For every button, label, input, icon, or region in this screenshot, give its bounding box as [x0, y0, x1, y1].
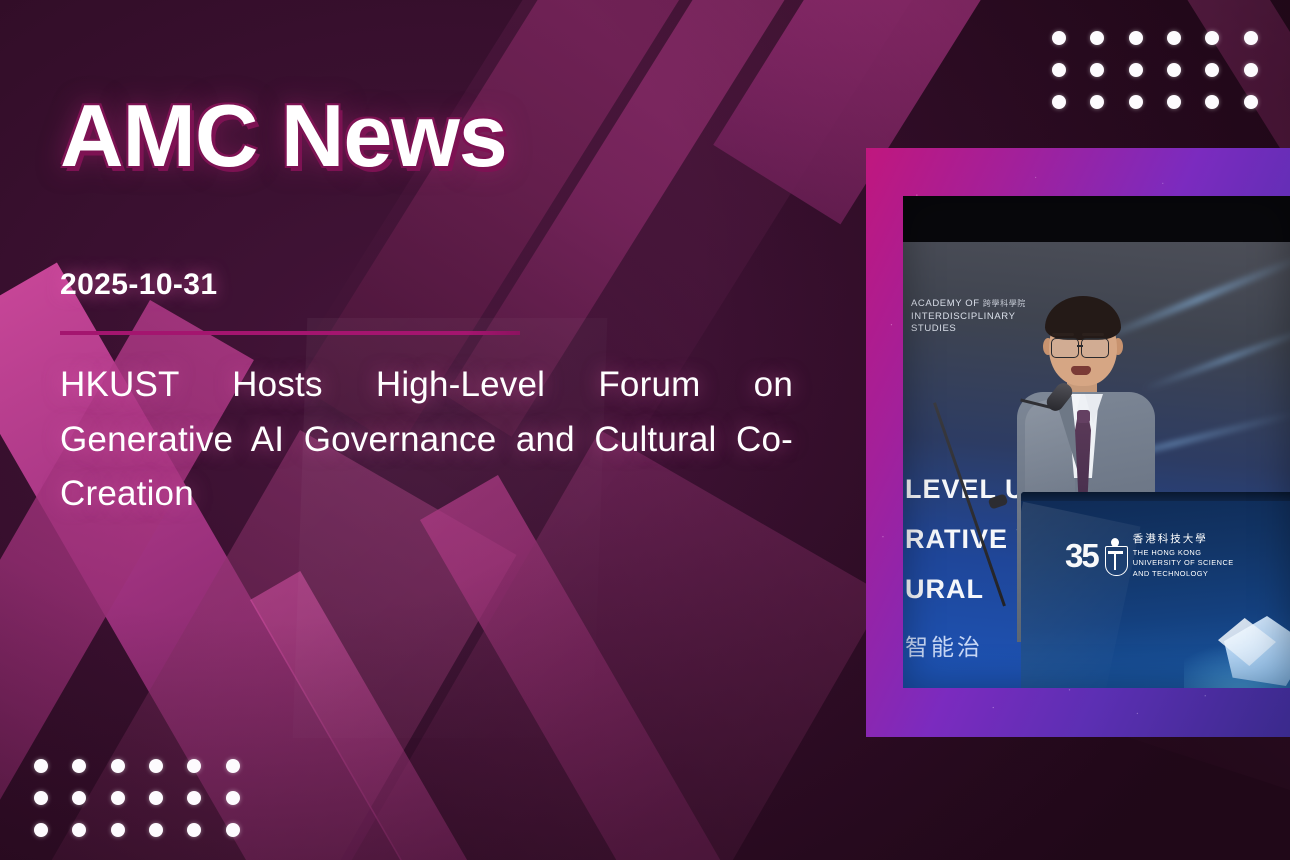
hkust-name-cn: 香港科技大學: [1133, 532, 1234, 547]
backdrop-title-line-3: URAL: [905, 574, 984, 605]
grid-dot: [1244, 95, 1258, 109]
grid-dot: [1090, 63, 1104, 77]
masthead-title: AMC News: [60, 92, 507, 180]
speaker-mouth: [1071, 366, 1091, 375]
grid-dot: [1129, 95, 1143, 109]
grid-dot: [1090, 95, 1104, 109]
tie-knot: [1077, 410, 1090, 423]
grid-dot: [1129, 31, 1143, 45]
hkust-shield-icon: [1104, 538, 1127, 574]
shield-stem: [1114, 554, 1117, 570]
speaker-eyebrow-right: [1082, 333, 1104, 336]
headline-text: HKUST Hosts High-Level Forum on Generati…: [60, 358, 793, 576]
academy-line-1: ACADEMY OF: [911, 298, 980, 309]
academy-line-3: STUDIES: [911, 323, 1026, 336]
amc-news-poster: AMC News 2025-10-31 HKUST Hosts High-Lev…: [0, 0, 1290, 860]
grid-dot: [1052, 63, 1066, 77]
grid-dot: [1167, 63, 1181, 77]
grid-dot: [1167, 31, 1181, 45]
speaker-eyebrow-left: [1052, 333, 1074, 336]
dot-grid-top-right: [1040, 22, 1270, 118]
hkust-wordmark: 香港科技大學 THE HONG KONG UNIVERSITY OF SCIEN…: [1133, 532, 1234, 579]
backdrop-academy-logo: ACADEMY OF 跨學科學院 INTERDISCIPLINARY STUDI…: [911, 298, 1026, 336]
lectern-artwork: [1194, 582, 1290, 688]
hkust-logo: 35 香港科技大學 THE HONG KONG UNIVERSITY OF SC…: [1065, 532, 1234, 579]
glasses-icon: [1051, 338, 1079, 358]
academy-line-2: INTERDISCIPLINARY: [911, 311, 1026, 324]
backdrop-title-chinese: 智能治: [905, 628, 983, 662]
hkust-name-en-3: AND TECHNOLOGY: [1133, 569, 1234, 580]
grid-dot: [1244, 63, 1258, 77]
news-photo: ACADEMY OF 跨學科學院 INTERDISCIPLINARY STUDI…: [866, 148, 1290, 737]
grid-dot: [1167, 95, 1181, 109]
shield-dot: [1111, 538, 1119, 547]
lectern-highlight: [1021, 502, 1140, 688]
divider-rule: [60, 331, 520, 335]
grid-dot: [1052, 95, 1066, 109]
grid-dot: [1244, 31, 1258, 45]
grid-dot: [1090, 31, 1104, 45]
text-column: AMC News 2025-10-31 HKUST Hosts High-Lev…: [0, 0, 830, 860]
hkust-name-en-2: UNIVERSITY OF SCIENCE: [1133, 558, 1234, 569]
grid-dot: [1205, 31, 1219, 45]
stage-ceiling: [903, 196, 1290, 242]
photo-scene: ACADEMY OF 跨學科學院 INTERDISCIPLINARY STUDI…: [903, 196, 1290, 688]
grid-dot: [1129, 63, 1143, 77]
lectern-top-edge: [1021, 492, 1290, 501]
light-beam: [1143, 325, 1290, 391]
hkust-name-en-1: THE HONG KONG: [1133, 548, 1234, 559]
glasses-icon: [1081, 338, 1109, 358]
grid-dot: [1052, 31, 1066, 45]
grid-dot: [1205, 63, 1219, 77]
glasses-bridge: [1077, 345, 1083, 347]
lectern: 35 香港科技大學 THE HONG KONG UNIVERSITY OF SC…: [1021, 492, 1290, 688]
anniversary-35-icon: 35: [1065, 539, 1098, 572]
grid-dot: [1205, 95, 1219, 109]
publish-date: 2025-10-31: [60, 268, 217, 302]
